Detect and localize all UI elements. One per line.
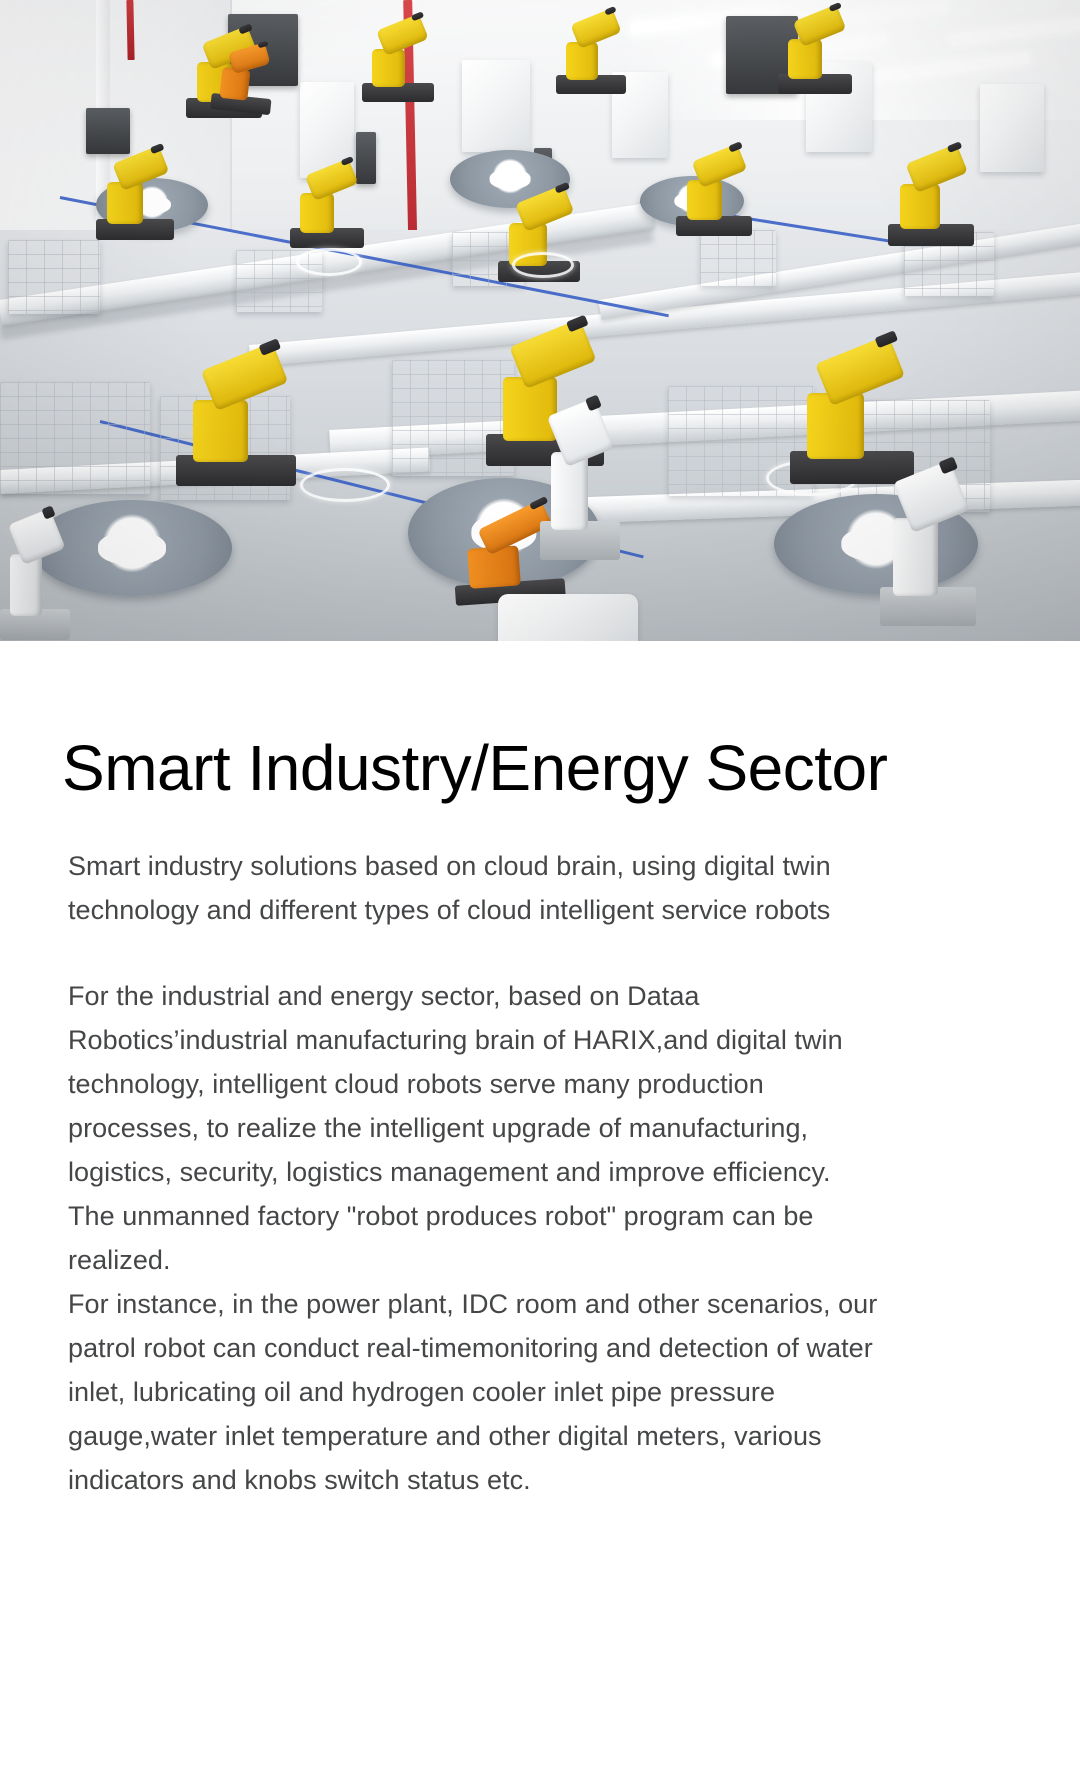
parts-crate <box>8 240 100 314</box>
hero-image <box>0 0 1080 641</box>
machine-cabinet <box>980 84 1044 172</box>
robot-end-effector <box>947 141 963 153</box>
article-paragraph-1: For the industrial and energy sector, ba… <box>68 974 883 1194</box>
floor-marker-ring <box>300 468 390 502</box>
foreground-equipment-panel <box>498 594 638 641</box>
page-root: Smart Industry/Energy Sector Smart indus… <box>0 0 1080 1785</box>
red-support-post-secondary <box>126 0 134 60</box>
robot-arm <box>290 172 364 248</box>
article-body: Smart industry solutions based on cloud … <box>0 844 1080 1502</box>
page-title: Smart Industry/Energy Sector <box>0 641 1080 800</box>
article-paragraph-2: The unmanned factory "robot produces rob… <box>68 1194 883 1282</box>
robot-upper-arm <box>691 143 747 187</box>
floor-marker-ring <box>512 252 574 278</box>
robot-arm <box>676 158 752 236</box>
robot-end-effector <box>411 12 424 22</box>
ceiling-light <box>870 52 1030 82</box>
robot-arm <box>96 160 174 240</box>
dark-equipment-cabinet <box>86 108 130 154</box>
parts-crate <box>0 382 150 494</box>
collaborative-robot-arm <box>880 476 976 626</box>
robot-lower-arm <box>566 42 598 79</box>
article-paragraph-3: For instance, in the power plant, IDC ro… <box>68 1282 883 1502</box>
article-content: Smart Industry/Energy Sector Smart indus… <box>0 641 1080 1502</box>
robot-arm <box>888 160 974 246</box>
robot-arm <box>778 18 852 94</box>
robot-arm <box>790 358 914 484</box>
robot-end-effector <box>604 6 617 16</box>
robot-arm <box>210 49 276 115</box>
collaborative-robot-arm <box>540 410 620 560</box>
robot-arm <box>362 28 434 102</box>
robot-arm <box>176 366 296 486</box>
machine-cabinet <box>462 60 530 152</box>
ceiling-light <box>950 18 1080 46</box>
floor-marker-ring <box>296 248 362 276</box>
factory-scene-illustration <box>0 0 1080 641</box>
robot-arm <box>556 22 626 94</box>
article-lead-paragraph: Smart industry solutions based on cloud … <box>68 844 868 932</box>
robot-end-effector <box>728 141 742 152</box>
collaborative-robot-arm <box>0 520 70 640</box>
parts-crate <box>700 230 776 286</box>
